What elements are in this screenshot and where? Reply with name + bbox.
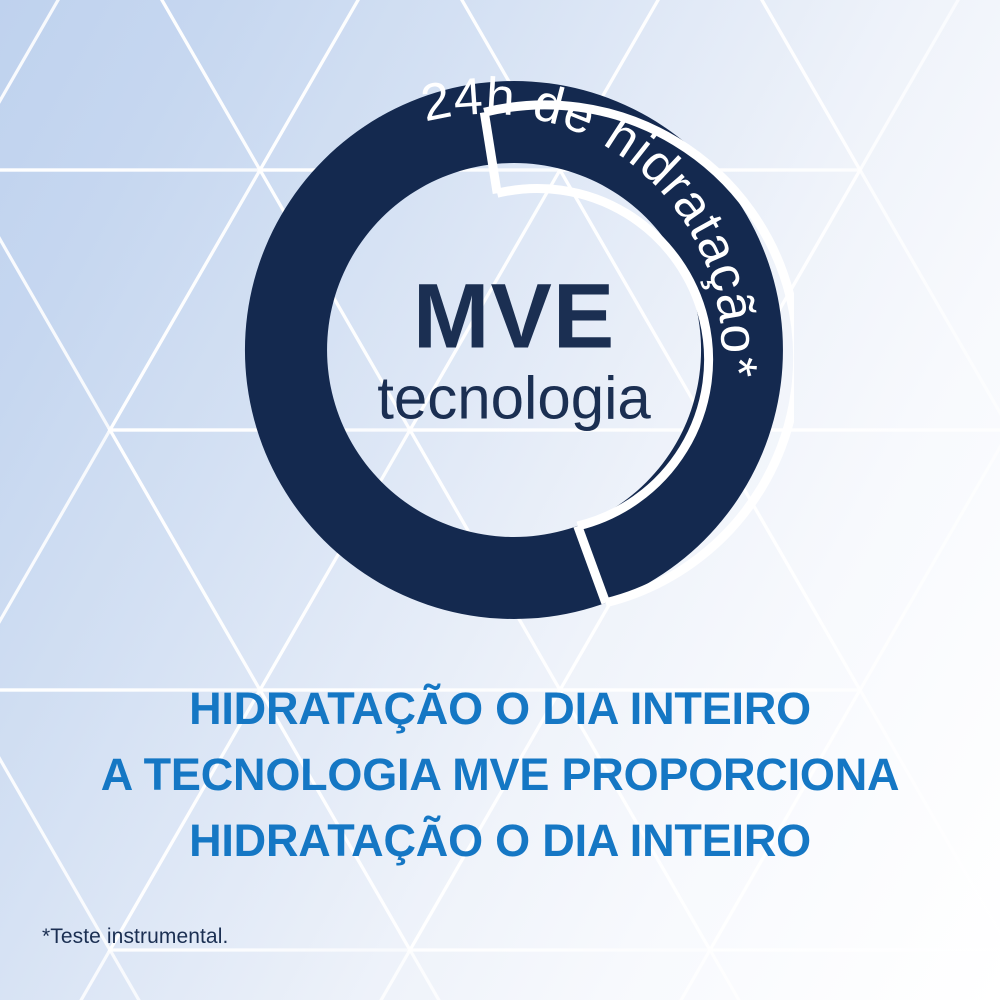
promo-banner: 24h de hidratação* MVE tecnologia HIDRAT… bbox=[0, 0, 1000, 1000]
headline-block: HIDRATAÇÃO O DIA INTEIRO A TECNOLOGIA MV… bbox=[0, 676, 1000, 874]
headline-line-1: HIDRATAÇÃO O DIA INTEIRO bbox=[0, 676, 1000, 742]
mve-badge: 24h de hidratação* MVE tecnologia bbox=[234, 70, 794, 630]
badge-title: MVE bbox=[324, 271, 704, 361]
headline-line-3: HIDRATAÇÃO O DIA INTEIRO bbox=[0, 808, 1000, 874]
badge-center-text: MVE tecnologia bbox=[324, 271, 704, 428]
badge-subtitle: tecnologia bbox=[324, 367, 704, 428]
headline-line-2: A TECNOLOGIA MVE PROPORCIONA bbox=[0, 742, 1000, 808]
footnote-text: *Teste instrumental. bbox=[42, 925, 228, 949]
